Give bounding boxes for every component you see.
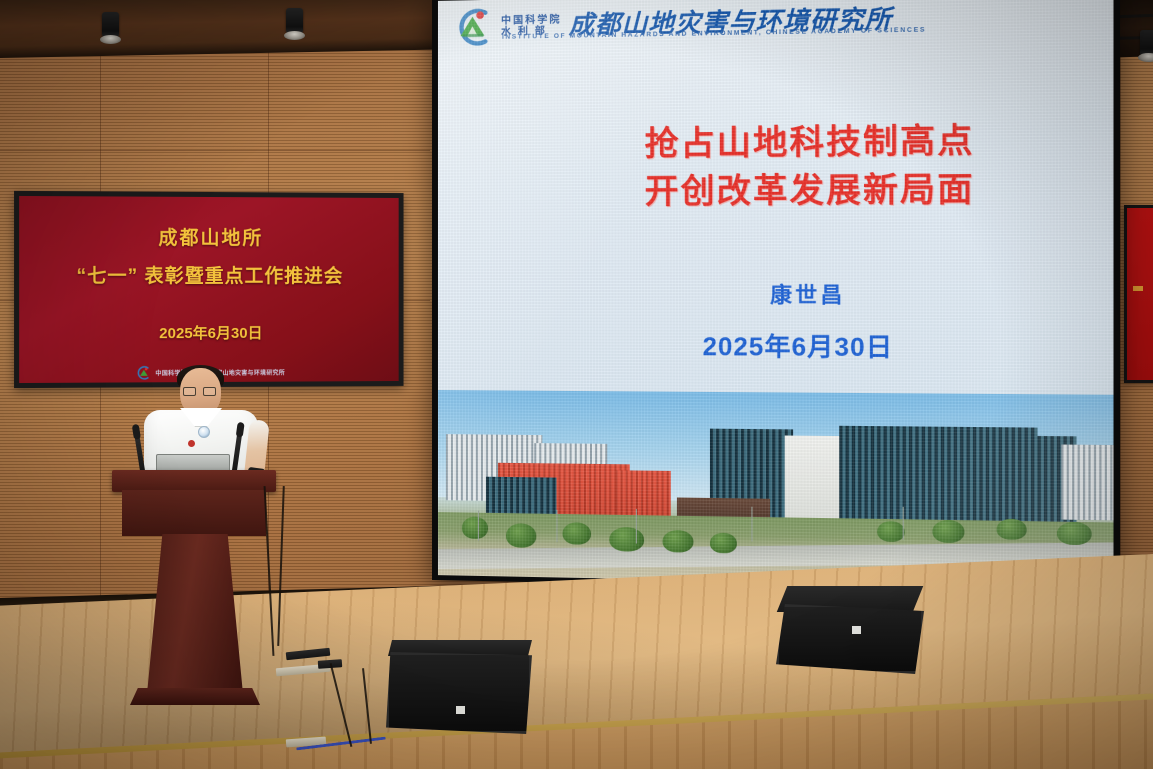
photo-tree [462, 516, 488, 538]
stage-spotlight [1140, 30, 1153, 57]
stage-monitor-right [776, 586, 924, 682]
photo-tree [997, 519, 1027, 540]
shirt-emblem [198, 426, 210, 438]
event-banner: 成都山地所 “七一” 表彰暨重点工作推进会 2025年6月30日 中国科学院 水… [14, 191, 404, 388]
slide-title: 抢占山地科技制高点 开创改革发展新局面 [476, 115, 1114, 217]
campus-photo [438, 390, 1114, 588]
podium [116, 470, 272, 720]
photo-lamppost [903, 507, 904, 540]
slide-header: 中国科学院 水 利 部 成都山地灾害与环境研究所 [452, 0, 892, 49]
podium-front [122, 490, 266, 536]
photo-building [615, 470, 670, 517]
stage-spotlight [286, 8, 303, 35]
photo-lamppost [556, 510, 557, 542]
slide-presenter-name: 康世昌 [476, 279, 1114, 310]
presentation-photo: 成都山地所 “七一” 表彰暨重点工作推进会 2025年6月30日 中国科学院 水… [0, 0, 1153, 769]
photo-building-main [785, 435, 846, 530]
podium-top [112, 470, 276, 492]
stage-spotlight [102, 12, 119, 39]
stage-monitor-left [386, 640, 532, 740]
wall-red-panel [1124, 205, 1153, 383]
podium-column [147, 534, 243, 694]
photo-lamppost [636, 509, 637, 543]
slide-title-line-1: 抢占山地科技制高点 [476, 115, 1114, 170]
slide-date: 2025年6月30日 [466, 326, 1114, 366]
banner-line-1: 成都山地所 [158, 223, 263, 250]
wall-seam [1120, 0, 1121, 600]
photo-building [1061, 444, 1113, 520]
photo-tree [932, 520, 964, 543]
photo-lamppost [751, 507, 752, 542]
banner-line-2: “七一” 表彰暨重点工作推进会 [76, 261, 343, 288]
photo-lamppost [478, 511, 479, 541]
photo-tree [663, 530, 694, 553]
photo-tree [1057, 522, 1092, 546]
photo-tree [563, 522, 591, 545]
banner-date: 2025年6月30日 [159, 322, 262, 343]
led-screen[interactable]: 中国科学院 水 利 部 成都山地灾害与环境研究所 INSTITUTE OF MO… [432, 0, 1120, 594]
slide-title-line-2: 开创改革发展新局面 [476, 164, 1114, 217]
shirt-pin [188, 440, 195, 447]
institute-emblem-icon [452, 6, 494, 49]
photo-tree [609, 527, 644, 552]
glasses-icon [183, 387, 218, 396]
podium-base [130, 688, 260, 705]
photo-tree [877, 521, 905, 542]
wall-seam [0, 150, 430, 151]
photo-tree [710, 533, 737, 554]
photo-tree [506, 523, 536, 548]
